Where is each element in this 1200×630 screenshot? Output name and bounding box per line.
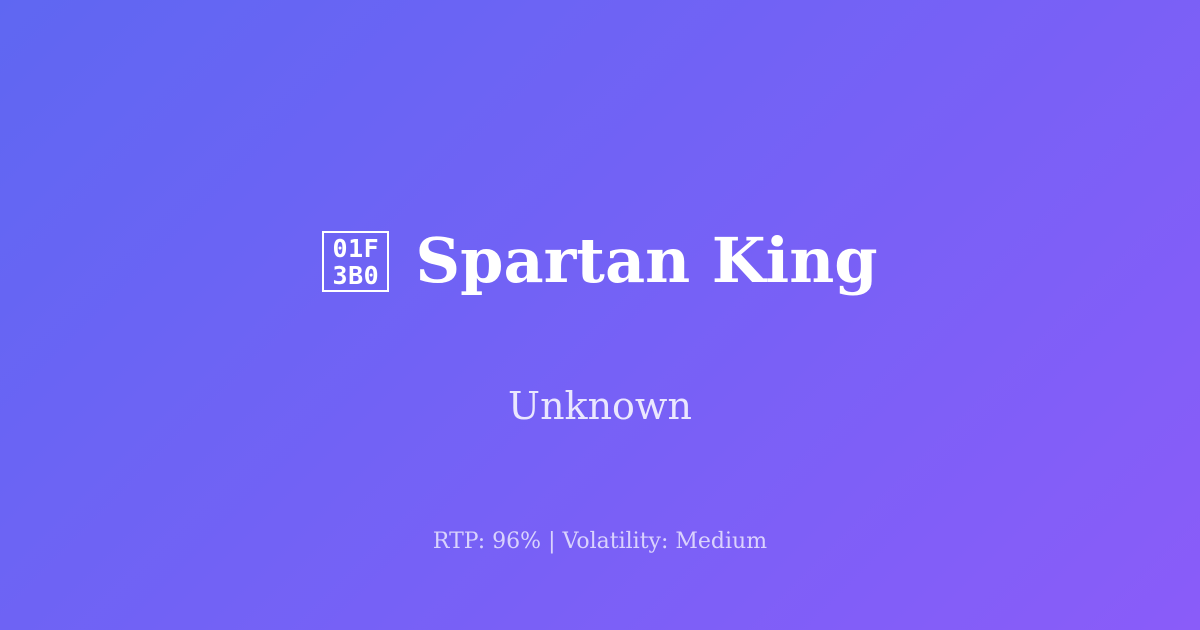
provider-name: Unknown [508,384,692,430]
game-stats-meta: RTP: 96% | Volatility: Medium [0,528,1200,556]
title-row: 01F 3B0 Spartan King [0,186,1200,336]
og-card: 01F 3B0 Spartan King Unknown RTP: 96% | … [0,0,1200,630]
slot-machine-emoji-icon: 01F 3B0 [322,231,389,292]
hero-content: 01F 3B0 Spartan King Unknown [0,186,1200,430]
emoji-codepoint-line-2: 3B0 [333,262,380,289]
page-title: Spartan King [415,228,877,295]
emoji-codepoint-line-1: 01F [333,235,380,262]
